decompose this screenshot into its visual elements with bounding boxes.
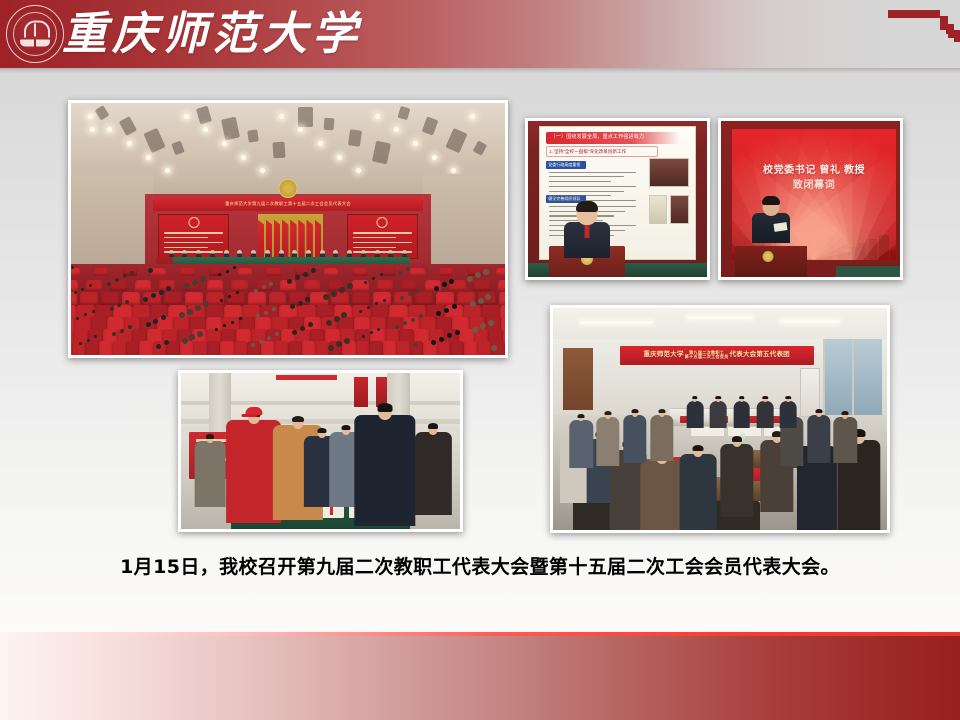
photo-fifth-delegation-meeting[interactable]: 重庆师范大学第九届二次教职工第十五届二次工会会员代表大会第五代表团 — [550, 305, 890, 533]
audience-head — [159, 290, 164, 295]
auditorium-audience — [71, 264, 505, 355]
audience-head — [292, 330, 297, 335]
attendee-figure — [720, 437, 753, 517]
ceiling-lamp — [356, 168, 361, 173]
ceiling-slat — [472, 140, 486, 155]
person-body — [680, 454, 717, 530]
audience-head — [331, 291, 337, 297]
ceiling-lamp — [413, 141, 418, 146]
audience-head — [197, 331, 203, 337]
audience-head — [298, 301, 303, 306]
delegation-banner: 重庆师范大学第九届二次教职工第十五届二次工会会员代表大会第五代表团 — [620, 346, 814, 365]
person-hair — [317, 428, 326, 433]
attendee-figure — [757, 397, 774, 428]
audience-head — [362, 335, 365, 338]
ceiling-lamp — [298, 127, 303, 132]
audience-head — [125, 300, 129, 304]
audience-head — [192, 280, 198, 286]
audience-head — [491, 345, 497, 351]
person-body — [354, 415, 415, 525]
ceiling-lamp — [90, 127, 95, 132]
audience-head — [267, 336, 271, 340]
person-body — [780, 401, 797, 428]
skyline-building — [890, 250, 897, 260]
audience-head — [264, 311, 268, 315]
slide-body-line — [549, 191, 624, 192]
person-hair — [292, 416, 304, 423]
banner-tail-text: 代表大会第五代表团 — [730, 352, 790, 359]
person-body — [834, 417, 857, 463]
ceiling-light — [687, 316, 754, 319]
audience-head — [215, 328, 218, 331]
ceiling-slat — [348, 129, 362, 147]
audience-head — [115, 278, 119, 282]
audience-head — [262, 285, 266, 289]
person-body — [596, 417, 619, 465]
person-body — [687, 401, 704, 428]
person-body — [570, 420, 593, 468]
person-hair — [815, 409, 822, 413]
audience-head — [231, 321, 234, 324]
person-hair — [692, 396, 698, 399]
ceiling-slat — [119, 117, 137, 137]
ceiling-slat — [398, 106, 410, 120]
audience-head — [334, 316, 340, 322]
person-figure — [354, 404, 415, 526]
stage-banner: 重庆师范大学第九届二次教职工第十五届二次工会会员代表大会 — [153, 198, 422, 212]
ceiling-slat — [422, 117, 439, 136]
university-seal-icon — [6, 5, 64, 63]
person-hair — [341, 425, 350, 430]
audience-head — [344, 338, 350, 344]
audience-head — [182, 338, 188, 344]
audience-head — [254, 289, 258, 293]
ceiling-slat — [247, 130, 258, 143]
photo-delegate-registration[interactable] — [178, 370, 463, 532]
bottom-gradient-band — [0, 636, 960, 720]
ceiling-slat — [273, 142, 286, 159]
slide-body-line — [549, 172, 636, 173]
audience-head — [272, 307, 276, 311]
attendee-figure — [680, 446, 717, 530]
audience-seat-row — [71, 292, 505, 305]
audience-head — [128, 325, 132, 329]
audience-head — [383, 299, 386, 302]
lobby-red-sign — [276, 375, 337, 380]
speaker-figure — [560, 202, 614, 274]
person-hair — [732, 436, 742, 442]
photo-main-auditorium[interactable]: 重庆师范大学第九届二次教职工第十五届二次工会会员代表大会 — [68, 100, 508, 358]
ceiling-slat — [372, 141, 391, 164]
ceiling-lamp — [318, 141, 323, 146]
screen-text-line — [353, 242, 411, 243]
slide-caption: 1月15日，我校召开第九届二次教职工代表大会暨第十五届二次工会会员代表大会。 — [0, 552, 960, 579]
delegation-scene: 重庆师范大学第九届二次教职工第十五届二次工会会员代表大会第五代表团 — [553, 308, 887, 530]
slide-photo — [670, 195, 689, 224]
auditorium-wall-left — [71, 174, 153, 275]
audience-head — [411, 318, 415, 322]
ceiling-lamp — [165, 168, 170, 173]
university-name-title: 重庆师范大学 — [62, 3, 362, 65]
audience-head — [187, 309, 193, 315]
ceiling-slat — [221, 117, 240, 140]
ceiling-light — [780, 320, 840, 323]
closing-scene: 校党委书记 曾礼 教授 致闭幕词 — [721, 121, 900, 277]
audience-head — [259, 340, 263, 344]
person-body — [807, 415, 830, 463]
slide-heading: （一）围绕发展全局，重点工作强进有力 — [551, 133, 645, 141]
audience-head — [326, 320, 332, 326]
stage-dais — [836, 266, 900, 277]
ceiling-light — [580, 321, 653, 324]
audience-head — [398, 271, 402, 275]
audience-head — [455, 330, 460, 335]
ceiling-slat — [95, 105, 109, 120]
person-hair — [842, 411, 849, 415]
audience-head — [269, 282, 273, 286]
audience-head — [87, 339, 90, 342]
audience-head — [92, 310, 95, 313]
attendee-figure — [780, 397, 797, 428]
auditorium-wall-right — [423, 174, 505, 275]
ceiling-lamp — [241, 155, 246, 160]
slide-body-line — [549, 186, 636, 187]
attendee-figure — [596, 412, 619, 465]
person-hair — [605, 411, 612, 415]
banner-small-bottom: 第十五届二次工会会员 — [685, 355, 729, 359]
attendee-figure — [834, 412, 857, 463]
slide-body-line — [549, 181, 611, 182]
person-hair — [716, 396, 722, 399]
attendee-figure — [807, 410, 830, 463]
person-figure — [195, 435, 226, 507]
slide-tag-1: 党委行政高度重视 — [548, 162, 580, 168]
screen-text-line — [164, 237, 207, 238]
audience-head — [195, 305, 201, 311]
person-body — [623, 415, 646, 463]
ceiling-slat — [171, 141, 184, 155]
auditorium-scene: 重庆师范大学第九届二次教职工第十五届二次工会会员代表大会 — [71, 103, 505, 355]
attendee-figure — [687, 397, 704, 428]
photo-closing-remarks[interactable]: 校党委书记 曾礼 教授 致闭幕词 — [718, 118, 903, 280]
person-body — [710, 401, 727, 428]
audience-head — [475, 272, 481, 278]
person-hair — [206, 434, 214, 438]
photo-work-report-speaker[interactable]: （一）围绕发展全局，重点工作强进有力 1. 坚持“全校一盘棋”深化改革创新工作 … — [525, 118, 710, 280]
person-hair — [693, 445, 704, 452]
audience-head — [120, 329, 124, 333]
attendee-figure — [570, 415, 593, 468]
ceiling-slat — [196, 105, 212, 124]
slide-photo — [649, 195, 668, 224]
ceiling-lamp — [88, 114, 93, 119]
delegation-banner-text: 重庆师范大学第九届二次教职工第十五届二次工会会员代表大会第五代表团 — [620, 346, 814, 365]
ceiling-lamp — [432, 155, 437, 160]
ceiling-lamp — [394, 127, 399, 132]
person-body — [640, 460, 683, 530]
ceiling-lamp — [260, 168, 265, 173]
ceiling-lamp — [470, 114, 475, 119]
audience-head — [239, 317, 242, 320]
ceiling-lamp — [146, 155, 151, 160]
attendee-figure — [710, 397, 727, 428]
header-shadow — [0, 68, 960, 73]
ceiling-lamp — [203, 127, 208, 132]
audience-seat-row — [71, 341, 505, 355]
screen-text-line — [353, 232, 411, 233]
audience-head — [483, 269, 489, 275]
audience-head — [226, 270, 229, 273]
ceiling-lamp — [127, 141, 132, 146]
ceiling-lamp — [375, 114, 380, 119]
lobby-red-banner — [354, 377, 368, 407]
stage-emblem-icon — [279, 179, 298, 198]
screen-text-line — [164, 242, 222, 243]
audience-head — [287, 279, 292, 284]
person-body — [650, 415, 673, 461]
audience-head — [311, 268, 316, 273]
ceiling-slat — [323, 118, 333, 130]
ceiling-lamp — [222, 141, 227, 146]
window-mullion — [852, 339, 854, 414]
audience-head — [200, 276, 206, 282]
audience-head — [107, 282, 111, 286]
slide-body-line — [549, 176, 624, 177]
person-hair — [578, 414, 585, 418]
speaker-scene: （一）围绕发展全局，重点工作强进有力 1. 坚持“全校一盘棋”深化改革创新工作 … — [528, 121, 707, 277]
audience-head — [434, 286, 439, 291]
audience-head — [439, 337, 444, 342]
ceiling-lamp — [337, 155, 342, 160]
person-hair — [377, 403, 392, 412]
audience-head — [406, 267, 410, 271]
audience-head — [419, 314, 423, 318]
ceiling-lamp — [107, 127, 112, 132]
audience-head — [347, 283, 353, 289]
person-hair — [631, 409, 638, 413]
slide-photo — [649, 158, 689, 187]
audience-head — [275, 332, 279, 336]
person-figure — [415, 424, 451, 514]
registration-scene — [181, 373, 460, 529]
person-body — [720, 444, 753, 516]
speaker-figure — [746, 197, 796, 263]
ceiling-slat — [144, 128, 166, 153]
ceiling-slat — [298, 107, 313, 128]
attendee-figure — [623, 410, 646, 463]
meeting-room-door — [563, 348, 593, 410]
audience-head — [303, 272, 308, 277]
ceiling-lamp — [184, 114, 189, 119]
banner-main-text: 重庆师范大学 — [643, 352, 683, 359]
audience-head — [143, 297, 148, 302]
person-hair — [786, 396, 792, 399]
audience-head — [339, 287, 345, 293]
audience-head — [488, 320, 494, 326]
audience-head — [478, 298, 484, 304]
screen-text-line — [353, 237, 396, 238]
ceiling-lamp — [279, 114, 284, 119]
screen-text-line — [164, 232, 222, 233]
attendee-figure — [650, 410, 673, 461]
meeting-room-window — [823, 339, 882, 414]
person-hair — [762, 396, 768, 399]
person-body — [195, 441, 226, 507]
slide-subheading: 1. 坚持“全校一盘棋”深化改革创新工作 — [549, 148, 626, 155]
ceiling-slat — [446, 128, 468, 153]
presentation-slide: 重庆师范大学 重庆师范大学第九届二次教职工第十五届二次工会会员代表大会 — [0, 0, 960, 720]
audience-head — [359, 310, 362, 313]
person-body — [415, 432, 451, 515]
audience-head — [123, 274, 127, 278]
person-hair — [428, 423, 438, 429]
audience-head — [367, 306, 370, 309]
audience-seat-row — [71, 268, 505, 276]
stepped-corner-ornament-top-right — [888, 8, 960, 44]
seal-glyph — [20, 20, 50, 46]
person-body — [757, 401, 774, 428]
audience-head — [110, 307, 114, 311]
person-body — [733, 401, 750, 428]
audience-head — [416, 289, 420, 293]
red-volunteer-cap — [245, 407, 262, 414]
audience-head — [290, 304, 295, 309]
person-hair — [739, 396, 745, 399]
person-hair — [658, 409, 665, 413]
attendee-figure — [733, 397, 750, 428]
